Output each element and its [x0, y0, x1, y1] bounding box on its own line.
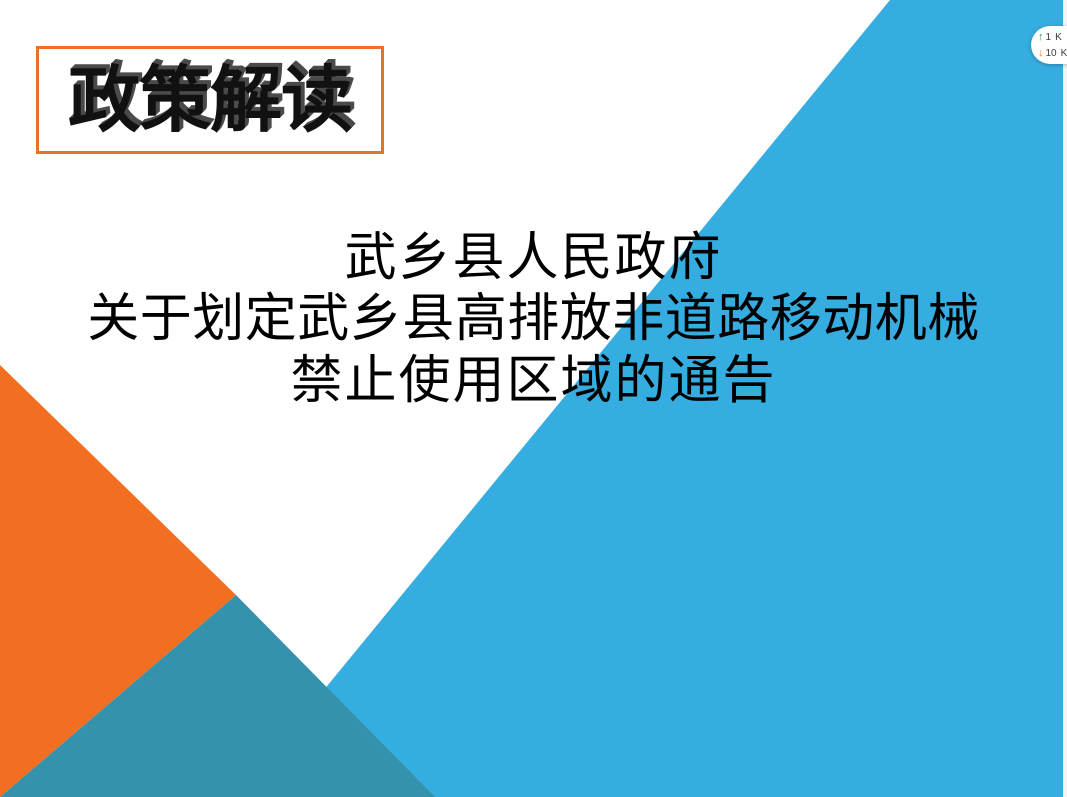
arrow-down-icon: ↓ — [1038, 48, 1044, 59]
arrow-up-icon: ↑ — [1038, 32, 1044, 43]
download-speed-value: 10 — [1046, 48, 1057, 59]
upload-speed-unit: K — [1055, 32, 1062, 43]
right-edge-strip — [1063, 0, 1067, 797]
download-speed-unit: K — [1061, 48, 1067, 59]
title-line-3: 禁止使用区域的通告 — [0, 351, 1067, 412]
title-line-2: 关于划定武乡县高排放非道路移动机械 — [0, 289, 1067, 350]
upload-speed-value: 1 — [1046, 32, 1052, 43]
network-speed-widget[interactable]: ↑ 1 K ↓ 10 K — [1031, 26, 1067, 64]
upload-speed-row: ↑ 1 K — [1038, 29, 1067, 45]
title-line-1: 武乡县人民政府 — [0, 228, 1067, 289]
section-badge-label: 政策解读 — [68, 64, 352, 136]
page-title: 武乡县人民政府 关于划定武乡县高排放非道路移动机械 禁止使用区域的通告 — [0, 228, 1067, 412]
section-badge: 政策解读 — [36, 46, 384, 154]
download-speed-row: ↓ 10 K — [1038, 45, 1067, 61]
presentation-slide: 政策解读 武乡县人民政府 关于划定武乡县高排放非道路移动机械 禁止使用区域的通告… — [0, 0, 1067, 797]
